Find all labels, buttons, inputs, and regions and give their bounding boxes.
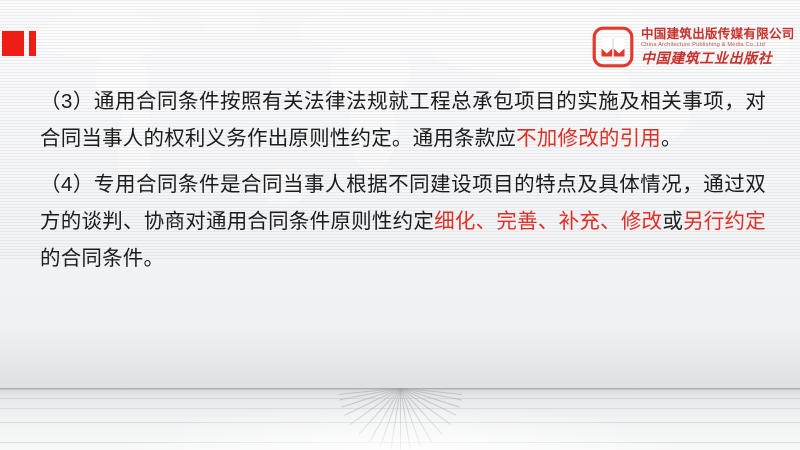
perspective-floor (0, 388, 800, 450)
text-run: 。 (661, 127, 682, 150)
red-block-wide (2, 31, 24, 56)
slide-canvas: 中国建筑出版传媒有限公司 China Architecture Publishi… (0, 0, 800, 450)
emphasis-run: 细化、完善、补充、修改 (434, 210, 662, 233)
emphasis-run: 另行约定 (683, 210, 766, 233)
logo-imprint-cn: 中国建筑工业出版社 (641, 52, 795, 66)
floor-grid-lines (0, 388, 800, 450)
emphasis-run: 不加修改的引用 (516, 127, 661, 150)
paragraph-item-3: （3）通用合同条件按照有关法律法规就工程总承包项目的实施及相关事项，对合同当事人… (40, 83, 766, 157)
logo-company-en: China Architecture Publishing & Media Co… (641, 43, 798, 49)
logo-company-cn: 中国建筑出版传媒有限公司 (641, 28, 795, 41)
paragraph-item-4: （4）专用合同条件是合同当事人根据不同建设项目的特点及具体情况，通过双方的谈判、… (40, 166, 766, 277)
text-run: 的合同条件。 (40, 247, 164, 270)
wall-floor-shadow (0, 330, 800, 388)
slide-body-text: （3）通用合同条件按照有关法律法规就工程总承包项目的实施及相关事项，对合同当事人… (40, 83, 766, 277)
publisher-logo: 中国建筑出版传媒有限公司 China Architecture Publishi… (592, 24, 797, 70)
red-block-thin (29, 31, 36, 56)
open-book-logo-icon (592, 26, 634, 68)
text-run: 或 (662, 210, 683, 233)
